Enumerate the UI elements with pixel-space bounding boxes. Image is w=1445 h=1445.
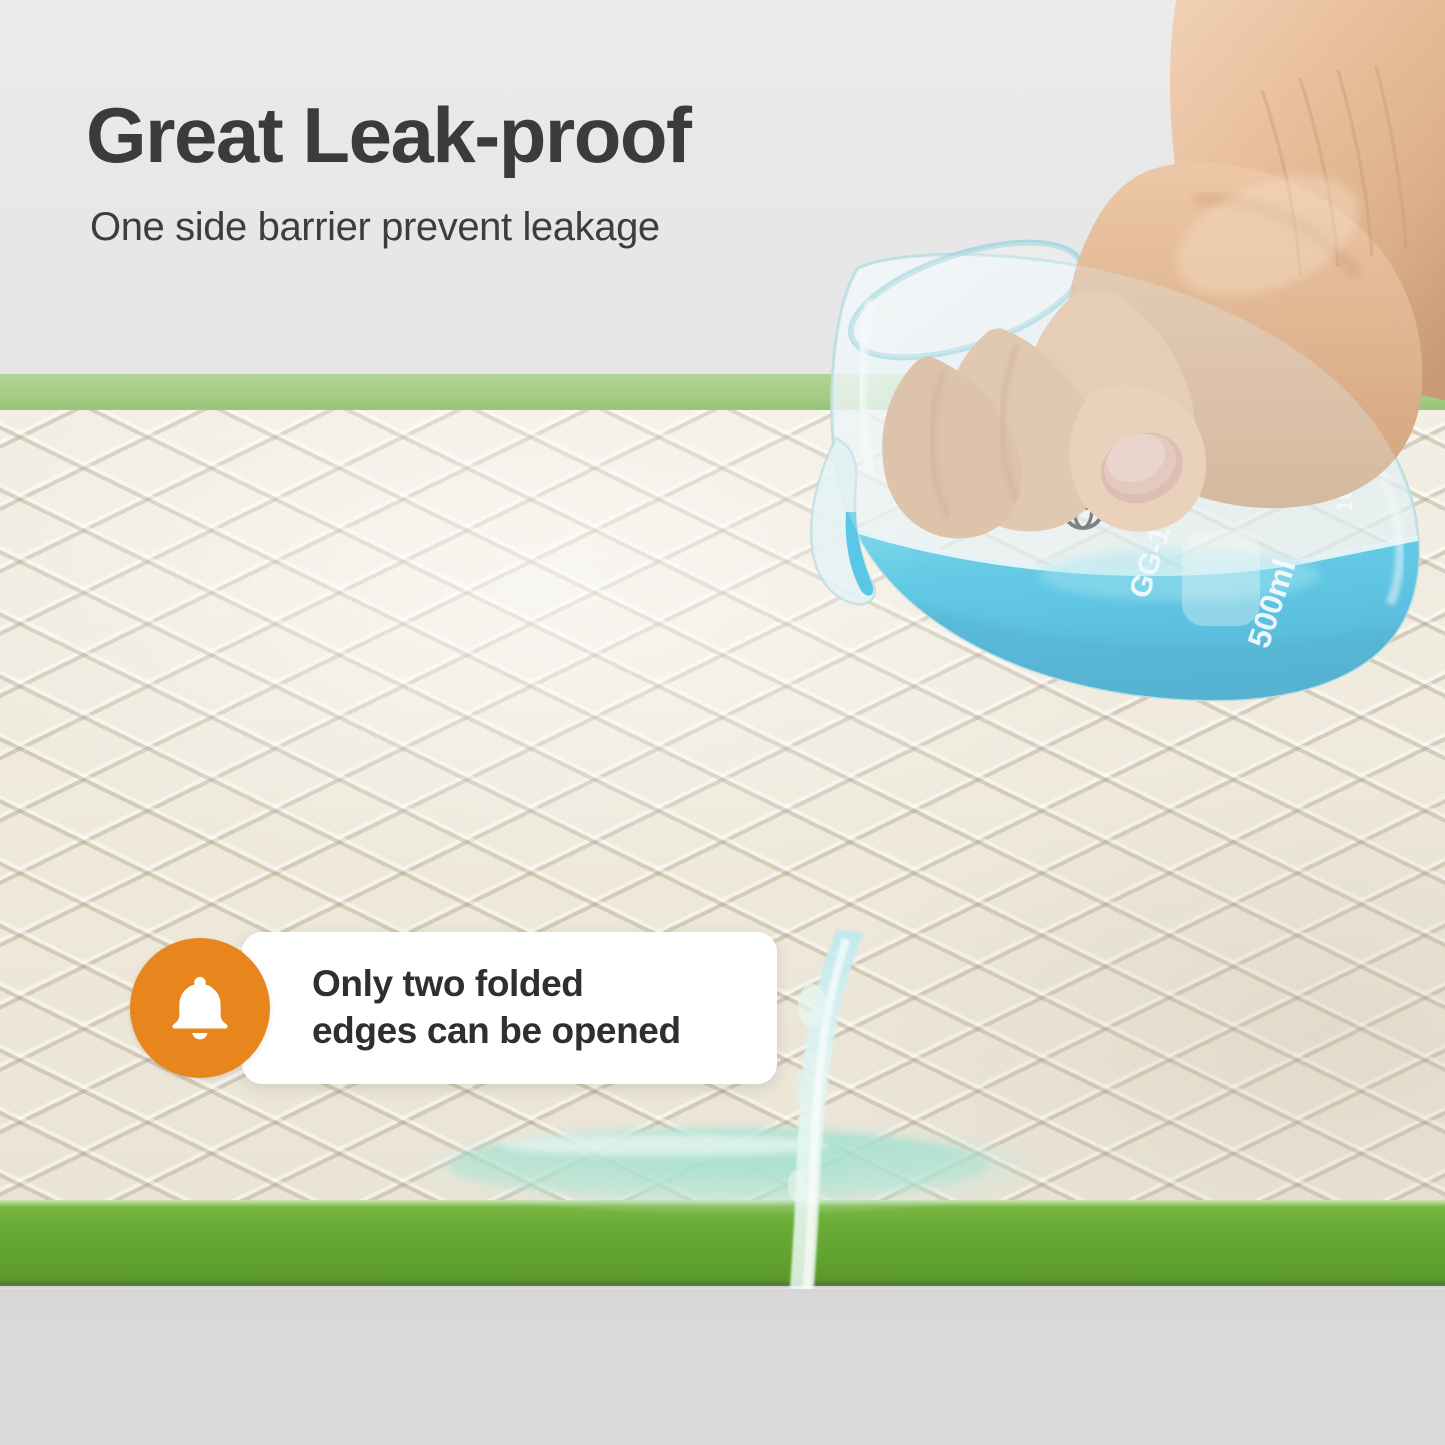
header-band: Great Leak-proof One side barrier preven… bbox=[0, 0, 1445, 374]
callout-card: Only two folded edges can be opened bbox=[242, 932, 777, 1084]
pad-top-folded-edge bbox=[0, 374, 1445, 412]
callout-line-2: edges can be opened bbox=[312, 1008, 681, 1055]
product-photo bbox=[0, 374, 1445, 1289]
callout-badge bbox=[130, 938, 270, 1078]
pad-barrier-shadow bbox=[0, 1282, 1445, 1289]
pad-quilted-surface bbox=[0, 410, 1445, 1204]
page-subtitle: One side barrier prevent leakage bbox=[90, 203, 660, 251]
spill-pool-highlight bbox=[500, 1134, 830, 1156]
page-title: Great Leak-proof bbox=[86, 96, 690, 174]
callout-text: Only two folded edges can be opened bbox=[312, 961, 681, 1054]
callout-line-1: Only two folded bbox=[312, 961, 681, 1008]
bell-icon bbox=[161, 969, 239, 1047]
callout-group: Only two folded edges can be opened bbox=[130, 932, 777, 1084]
footer-band bbox=[0, 1289, 1445, 1445]
product-marketing-image: Great Leak-proof One side barrier preven… bbox=[0, 0, 1445, 1445]
